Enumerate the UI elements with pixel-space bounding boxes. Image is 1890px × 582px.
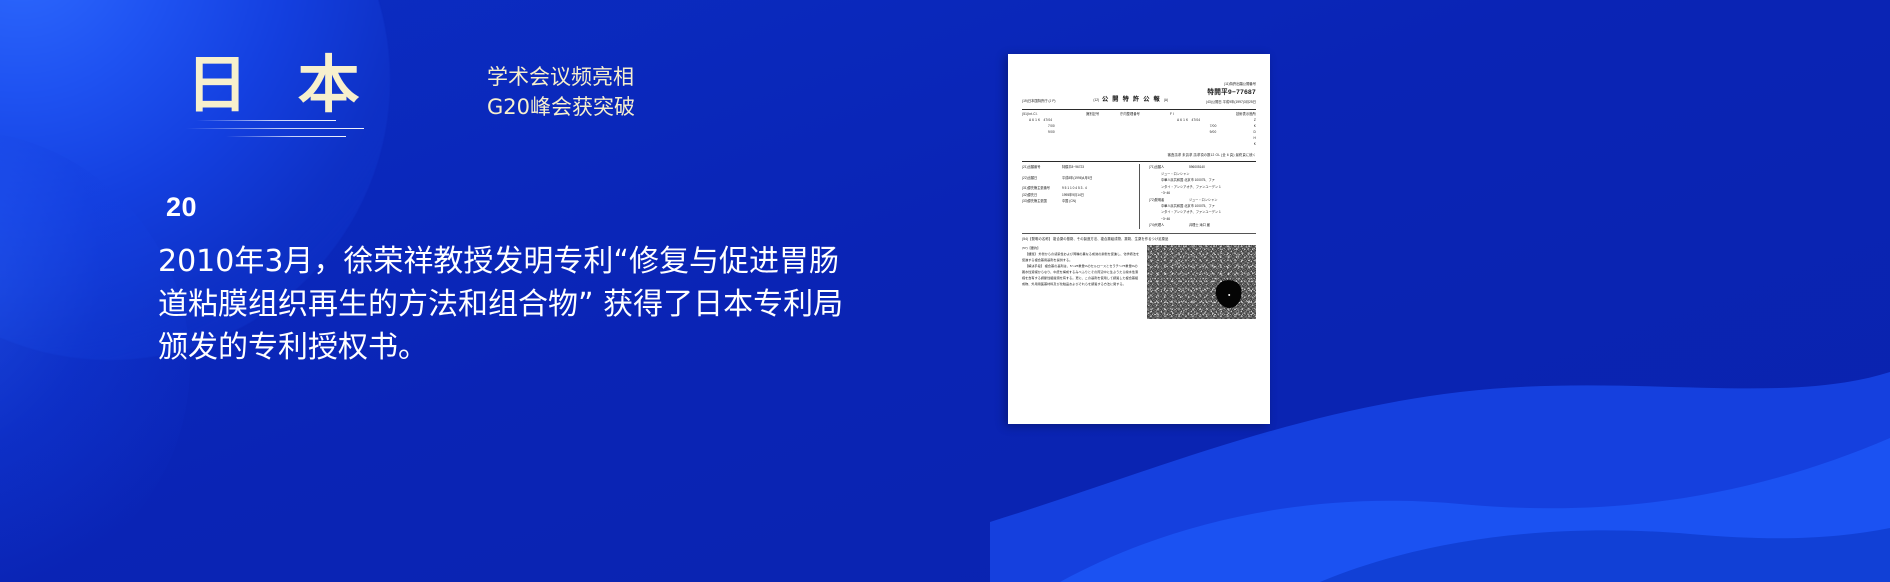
- biblio-label: (33)優先権主張国: [1022, 198, 1062, 204]
- slide-root: 日 本 学术会议频亮相 G20峰会获突破 20 2010年3月，徐荣祥教授发明专…: [0, 0, 1890, 582]
- biblio-label: (22)出願日: [1022, 175, 1062, 181]
- patent-pubnumber-label: (11)特許出願公開番号: [1206, 82, 1256, 87]
- page-title: 日 本: [186, 52, 374, 117]
- patent-office-code: (19)日本国特許庁 (J P): [1022, 99, 1056, 105]
- biblio-value: 596005140: [1189, 164, 1256, 170]
- patent-biblio-right: (71)出願人 596005140 ジュー・ロンシャン 中華人民共和国 北京市 …: [1139, 164, 1256, 228]
- biblio-label: (72)発明者: [1149, 197, 1189, 203]
- classification-cell-empty2: [1120, 142, 1170, 148]
- biblio-value: 特願平8−96723: [1062, 164, 1139, 170]
- classification-ipc: A 6 1 K: [1029, 118, 1040, 122]
- patent-abstract-text: (57)【要約】 【課題】 外傷からの感染性および同種の異なる成熟の損傷を促進し…: [1022, 245, 1140, 319]
- patent-document-content: (19)日本国特許庁 (J P) (12) 公 開 特 許 公 報 (A) (1…: [1022, 82, 1256, 410]
- biblio-row: (21)出願番号 特願平8−96723: [1022, 164, 1139, 170]
- classification-fi-sub: 47/04: [1191, 118, 1200, 122]
- biblio-value: 弁理士 滝口 巌: [1189, 222, 1256, 228]
- patent-publication-date: (43)公開日 平成9年(1997)3月25日: [1206, 100, 1256, 105]
- biblio-row: (33)優先権主張国 中国 (CN): [1022, 198, 1139, 204]
- classification-fi: A 6 1 K: [1177, 118, 1188, 122]
- classification-cell-fi: [1170, 142, 1218, 148]
- biblio-row: (22)出願日 平成8年(1996)4月5日: [1022, 175, 1139, 181]
- classification-cell-empty: [1086, 142, 1120, 148]
- patent-publication-number: 特開平9−77687: [1206, 88, 1256, 98]
- biblio-row: (71)出願人 596005140: [1149, 164, 1256, 170]
- biblio-row: (74)代理人 弁理士 滝口 巌: [1149, 222, 1256, 228]
- classification-cell-tech: K: [1218, 142, 1256, 148]
- patent-kind-code: (12): [1093, 98, 1099, 102]
- decor-rule-1: [196, 120, 336, 121]
- patent-divider-1: [1022, 109, 1256, 110]
- decor-rule-2: [186, 128, 364, 129]
- patent-doc-title-group: (12) 公 開 特 許 公 報 (A): [1056, 95, 1206, 104]
- classification-row: K: [1022, 142, 1256, 148]
- title-block: 日 本: [186, 52, 374, 117]
- item-index-number: 20: [166, 192, 197, 223]
- biblio-row: (72)発明者 ジュー・ロンシャン: [1149, 197, 1256, 203]
- subtitle-line-2: G20峰会获突破: [487, 92, 635, 122]
- patent-examination-note: 審査請求 未請求 請求項の数12 OL (全 6 頁) 最終頁に続く: [1022, 152, 1256, 157]
- biblio-value: 中国 (CN): [1062, 198, 1139, 204]
- biblio-label: (21)出願番号: [1022, 164, 1062, 170]
- decor-rule-3: [226, 136, 346, 137]
- abstract-paragraph: 【課題】 外傷からの感染性および同種の異なる成熟の損傷を促進し、化学療法を促進す…: [1022, 251, 1140, 263]
- patent-header: (19)日本国特許庁 (J P) (12) 公 開 特 許 公 報 (A) (1…: [1022, 82, 1256, 105]
- patent-doc-kind-suffix: (A): [1164, 98, 1168, 102]
- patent-publication-block: (11)特許出願公開番号 特開平9−77687 (43)公開日 平成9年(199…: [1206, 82, 1256, 105]
- patent-doc-title: 公 開 特 許 公 報: [1102, 96, 1161, 103]
- patent-biblio-left: (21)出願番号 特願平8−96723 (22)出願日 平成8年(1996)4月…: [1022, 164, 1139, 228]
- patent-invention-title: (54)【発明の名称】 複合薬の基剤、その製造方法、複合薬組成物、薬剤、生薬を作…: [1022, 236, 1256, 241]
- classification-ipc-sub: 47/04: [1043, 118, 1052, 122]
- patent-divider-2: [1022, 161, 1256, 162]
- biblio-label: (71)出願人: [1149, 164, 1189, 170]
- biblio-value: ジュー・ロンシャン: [1189, 197, 1256, 203]
- patent-abstract-block: (57)【要約】 【課題】 外傷からの感染性および同種の異なる成熟の損傷を促進し…: [1022, 245, 1256, 319]
- subtitle-block: 学术会议频亮相 G20峰会获突破: [487, 62, 635, 123]
- subtitle-line-1: 学术会议频亮相: [487, 62, 635, 92]
- biblio-label: (74)代理人: [1149, 222, 1189, 228]
- title-decor-rules: [186, 120, 366, 144]
- patent-classification-table: (51)Int.Cl. 識別記号 庁内整理番号 F I 技術表示箇所 A 6 1…: [1022, 112, 1256, 148]
- patent-document-page: (19)日本国特許庁 (J P) (12) 公 開 特 許 公 報 (A) (1…: [1008, 54, 1270, 424]
- figure-label: 図1: [1175, 261, 1180, 265]
- body-paragraph: 2010年3月，徐荣祥教授发明专利“修复与促进胃肠道粘膜组织再生的方法和组合物”…: [158, 240, 848, 369]
- figure-dark-region: [1213, 277, 1244, 310]
- abstract-paragraph: 【解決手段】 複合薬の基剤は、5〜25重量%のセルロースとセラチ〜75重量%の親…: [1022, 263, 1140, 287]
- biblio-value: 平成8年(1996)4月5日: [1062, 175, 1139, 181]
- classification-cell: [1022, 142, 1086, 148]
- patent-figure-micrograph: 図1: [1147, 245, 1256, 319]
- patent-biblio-section: (21)出願番号 特願平8−96723 (22)出願日 平成8年(1996)4月…: [1022, 164, 1256, 228]
- left-content-column: 日 本 学术会议频亮相 G20峰会获突破 20 2010年3月，徐荣祥教授发明专…: [0, 0, 1000, 582]
